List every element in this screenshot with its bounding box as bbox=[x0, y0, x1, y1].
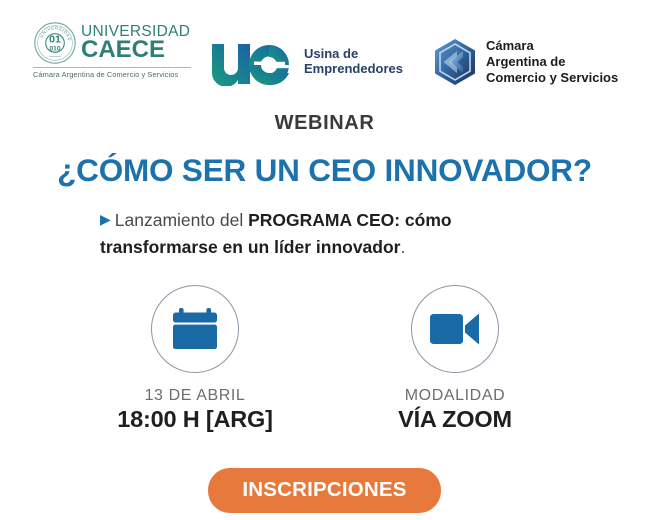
calendar-icon bbox=[170, 305, 220, 353]
cacs-wordmark: Cámara Argentina de Comercio y Servicios bbox=[486, 38, 618, 86]
modality-label: MODALIDAD bbox=[405, 387, 506, 405]
logo-universidad-caece: 01 010 UNIVERSIDAD CAECE UNIVERSIDAD CAE… bbox=[33, 21, 195, 79]
event-info-row: 13 DE ABRIL 18:00 H [ARG] MODALIDAD VÍA … bbox=[0, 285, 649, 433]
ue-line2: Emprendedores bbox=[304, 61, 403, 76]
video-camera-icon bbox=[429, 309, 481, 349]
video-camera-icon-circle bbox=[411, 285, 499, 373]
inscripciones-button[interactable]: INSCRIPCIONES bbox=[208, 468, 440, 513]
info-block-modality: MODALIDAD VÍA ZOOM bbox=[330, 285, 580, 433]
description-light-text: Lanzamiento del bbox=[115, 210, 248, 230]
event-type-kicker: WEBINAR bbox=[0, 112, 649, 135]
caece-logo-main: 01 010 UNIVERSIDAD CAECE UNIVERSIDAD CAE… bbox=[33, 21, 195, 65]
logo-usina-de-emprendedores: Usina de Emprendedores bbox=[210, 36, 403, 86]
info-block-date: 13 DE ABRIL 18:00 H [ARG] bbox=[70, 285, 320, 433]
cacs-line1: Cámara bbox=[486, 38, 618, 54]
cacs-line2: Argentina de bbox=[486, 54, 618, 70]
ue-line1: Usina de bbox=[304, 46, 403, 61]
caece-line2: CAECE bbox=[81, 38, 190, 62]
ue-wordmark: Usina de Emprendedores bbox=[304, 46, 403, 77]
play-triangle-icon: ▶ bbox=[100, 211, 111, 227]
logo-camara-argentina-comercio-servicios: Cámara Argentina de Comercio y Servicios bbox=[433, 38, 618, 86]
date-value: 18:00 H [ARG] bbox=[117, 406, 272, 433]
svg-text:01: 01 bbox=[49, 34, 61, 46]
description-period: . bbox=[400, 237, 405, 257]
svg-text:010: 010 bbox=[49, 45, 60, 52]
cacs-hexagon-icon bbox=[433, 38, 477, 86]
partner-logo-bar: 01 010 UNIVERSIDAD CAECE UNIVERSIDAD CAE… bbox=[0, 16, 649, 88]
calendar-icon-circle bbox=[151, 285, 239, 373]
caece-tagline: Cámara Argentina de Comercio y Servicios bbox=[33, 68, 195, 79]
page-title: ¿CÓMO SER UN CEO INNOVADOR? bbox=[0, 152, 649, 189]
event-description: ▶Lanzamiento del PROGRAMA CEO: cómo tran… bbox=[100, 207, 570, 260]
caece-wordmark: UNIVERSIDAD CAECE bbox=[81, 24, 190, 63]
modality-value: VÍA ZOOM bbox=[398, 406, 512, 433]
cacs-line3: Comercio y Servicios bbox=[486, 70, 618, 86]
ue-mark-icon bbox=[210, 36, 292, 86]
date-label: 13 DE ABRIL bbox=[145, 387, 246, 405]
caece-seal-icon: 01 010 UNIVERSIDAD CAECE bbox=[33, 21, 77, 65]
cta-container: INSCRIPCIONES bbox=[0, 468, 649, 513]
